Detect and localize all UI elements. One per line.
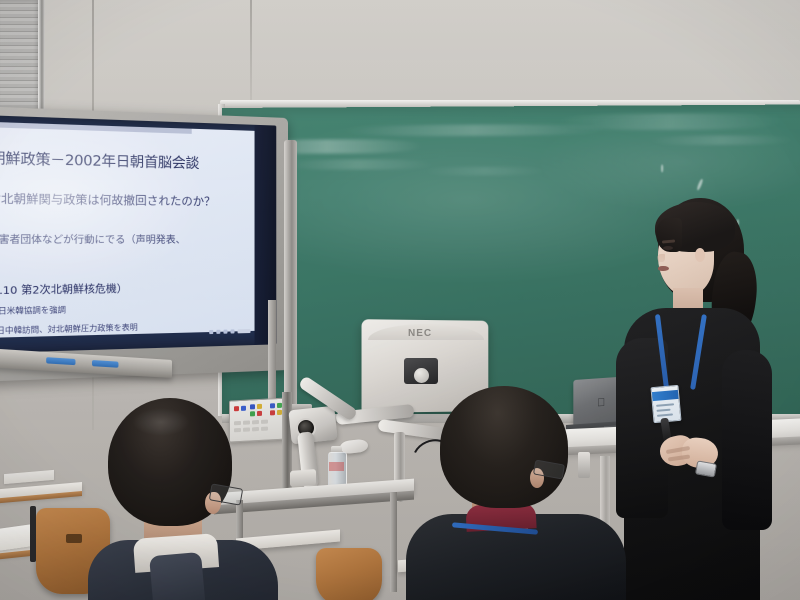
slide-bullet-1: 一次官補訪日、日米韓協調を強調 xyxy=(0,301,253,319)
display-osd-controls[interactable] xyxy=(209,329,250,334)
chair-handle-slot xyxy=(66,534,82,543)
presenter-right-arm xyxy=(722,350,772,530)
nec-logo: NEC xyxy=(408,328,432,339)
badge-text-line xyxy=(656,409,670,412)
interactive-whiteboard[interactable]: 関の北朝鮮政策－2002年日朝首脳会談 後日本の対北朝鮮関与政策は何故撤回された… xyxy=(0,105,288,383)
audience-left-hair-highlight xyxy=(132,408,190,436)
power-icon[interactable] xyxy=(209,330,213,334)
bottle-label xyxy=(329,462,344,471)
menu-icon[interactable] xyxy=(216,330,220,334)
presenter-nose xyxy=(657,254,665,262)
badge-header-band xyxy=(652,390,679,401)
display-mount-post-lower xyxy=(268,300,276,410)
slide-title: 関の北朝鮮政策－2002年日朝首脳会談 xyxy=(0,145,249,174)
volume-icon[interactable] xyxy=(230,329,234,333)
classroom-scene: 関の北朝鮮政策－2002年日朝首脳会談 後日本の対北朝鮮関与政策は何故撤回された… xyxy=(0,0,800,600)
badge-text-line xyxy=(657,413,673,416)
badge-text-line xyxy=(656,403,674,407)
audience-center-hair xyxy=(440,386,568,508)
slide-question: 後日本の対北朝鮮関与政策は何故撤回されたのか？ xyxy=(0,189,251,210)
wall-seam-right xyxy=(250,0,252,110)
presenter-mouth xyxy=(658,266,669,271)
podium-leg xyxy=(390,492,397,592)
slide-bullet-3: ムスフェルト国防長官、軍事的対応の可能性を表明 xyxy=(0,337,253,339)
audience-left-lapel xyxy=(149,552,207,600)
slide-bullet-2: ケリー特使、日中韓訪問、対北朝鮮圧力政策を表明 xyxy=(0,319,253,338)
presenter-person xyxy=(600,190,800,600)
student-chair[interactable] xyxy=(316,548,382,600)
monitor-mount-knob xyxy=(414,368,429,383)
presenter-eye xyxy=(663,246,673,250)
presenter-ear xyxy=(695,248,705,262)
slide-header-band xyxy=(0,122,192,134)
display-screen[interactable]: 関の北朝鮮政策－2002年日朝首脳会談 後日本の対北朝鮮関与政策は何故撤回された… xyxy=(0,114,276,354)
slide-section-header: 政策（2002.10 第2次北朝鮮核危機） xyxy=(0,278,251,298)
display-mount-post xyxy=(284,140,297,408)
doc-camera-base xyxy=(290,469,316,487)
audience-member-center xyxy=(406,386,626,600)
blue-stylus-icon[interactable] xyxy=(92,360,118,368)
slide-line-worsening: 悪化、拉致被害者団体などが行動にでる（声明発表、 xyxy=(0,231,251,247)
chair-leg xyxy=(30,506,36,562)
blue-stylus-icon[interactable] xyxy=(46,357,75,365)
presentation-slide: 関の北朝鮮政策－2002年日朝首脳会談 後日本の対北朝鮮関与政策は何故撤回された… xyxy=(0,121,255,339)
audience-member-left xyxy=(88,398,278,600)
brightness-icon[interactable] xyxy=(238,329,251,333)
input-icon[interactable] xyxy=(223,330,227,334)
